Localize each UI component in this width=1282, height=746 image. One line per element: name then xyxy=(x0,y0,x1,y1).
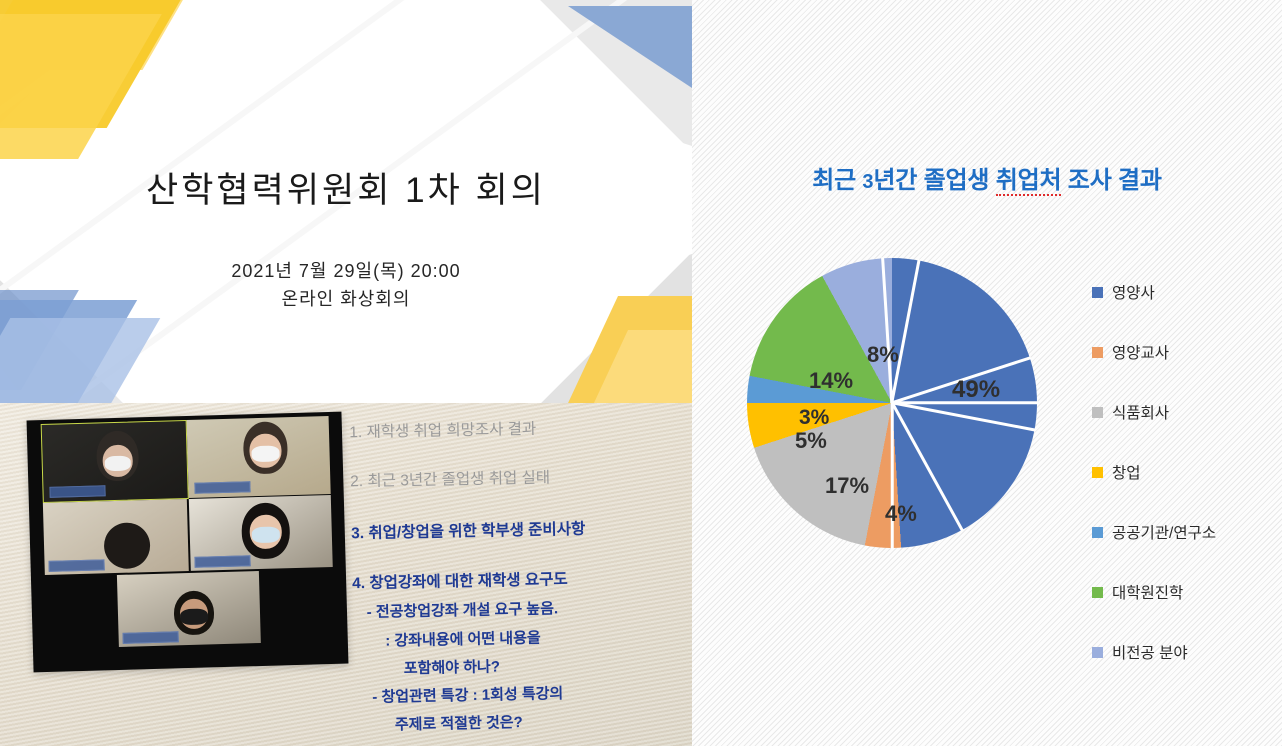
video-call-grid xyxy=(27,412,349,673)
video-tile-2 xyxy=(187,416,331,498)
legend-swatch-icon xyxy=(1092,647,1103,658)
title-slide-graphics: 산학협력위원회 1차 회의 2021년 7월 29일(목) 20:00 온라인 … xyxy=(0,0,692,405)
agenda-sub-2: : 강좌내용에 어떤 내용을 xyxy=(385,623,692,651)
pie-label-1: 4% xyxy=(885,501,917,527)
chart-title-suffix: 조사 결과 xyxy=(1061,167,1161,194)
slide-title: 산학협력위원회 1차 회의 xyxy=(0,162,692,213)
pie-label-4: 3% xyxy=(799,406,829,430)
chart-title-prefix: 최근 xyxy=(812,167,862,194)
participant-name-2 xyxy=(194,481,250,494)
participant-mask-4 xyxy=(252,526,280,543)
legend-label: 식품회사 xyxy=(1112,401,1169,423)
participant-hair-3 xyxy=(103,522,150,569)
chart-slide: 최근 3년간 졸업생 취업처 조사 결과 49% 4% 17% 5% 3% 14… xyxy=(692,0,1282,746)
legend-item[interactable]: 공공기관/연구소 xyxy=(1092,502,1277,562)
agenda-item-4: 4. 창업강좌에 대한 재학생 요구도 xyxy=(352,565,692,594)
meeting-photo: 1. 재학생 취업 희망조사 결과 2. 최근 3년간 졸업생 취업 실태 3.… xyxy=(0,403,692,746)
participant-mask-5 xyxy=(180,608,208,625)
legend-swatch-icon xyxy=(1092,347,1103,358)
participant-mask-2 xyxy=(251,445,279,462)
participant-mask-1 xyxy=(105,456,131,472)
chart-title-number: 3 xyxy=(862,171,873,193)
slide-subtitle: 2021년 7월 29일(목) 20:00 온라인 화상회의 xyxy=(0,258,692,314)
slide-screenshot: 산학협력위원회 1차 회의 2021년 7월 29일(목) 20:00 온라인 … xyxy=(0,0,1282,746)
pie-label-2: 17% xyxy=(825,473,869,499)
legend-label: 영양교사 xyxy=(1112,341,1169,363)
chart-title-misspelled-word: 취업처 xyxy=(996,167,1062,196)
pie-label-3: 5% xyxy=(795,428,827,454)
legend-swatch-icon xyxy=(1092,407,1103,418)
video-tile-1 xyxy=(41,420,189,503)
agenda-item-2: 2. 최근 3년간 졸업생 취업 실태 xyxy=(350,463,690,492)
agenda-sub-1: - 전공창업강좌 개설 요구 높음. xyxy=(366,594,692,622)
legend-label: 공공기관/연구소 xyxy=(1112,521,1216,543)
pie-chart: 49% 4% 17% 5% 3% 14% 8% xyxy=(747,258,1077,588)
slide-subtitle-line-2: 온라인 화상회의 xyxy=(0,286,692,314)
legend-item[interactable]: 대학원진학 xyxy=(1092,562,1277,622)
legend-label: 비전공 분야 xyxy=(1112,641,1188,663)
agenda-item-1: 1. 재학생 취업 희망조사 결과 xyxy=(349,414,689,443)
chart-legend: 영양사영양교사식품회사창업공공기관/연구소대학원진학비전공 분야 xyxy=(1092,262,1277,682)
legend-item[interactable]: 창업 xyxy=(1092,442,1277,502)
legend-item[interactable]: 영양사 xyxy=(1092,262,1277,322)
legend-swatch-icon xyxy=(1092,467,1103,478)
participant-name-5 xyxy=(123,631,179,644)
participant-name-1 xyxy=(49,485,105,498)
chart-title: 최근 3년간 졸업생 취업처 조사 결과 xyxy=(692,160,1282,195)
pie-label-5: 14% xyxy=(809,368,853,394)
slide-subtitle-line-1: 2021년 7월 29일(목) 20:00 xyxy=(0,258,692,286)
chart-title-mid: 년간 졸업생 xyxy=(873,167,995,194)
projected-agenda: 1. 재학생 취업 희망조사 결과 2. 최근 3년간 졸업생 취업 실태 3.… xyxy=(349,403,692,746)
legend-swatch-icon xyxy=(1092,527,1103,538)
legend-label: 영양사 xyxy=(1112,281,1155,303)
legend-swatch-icon xyxy=(1092,587,1103,598)
participant-name-3 xyxy=(48,559,104,572)
legend-item[interactable]: 영양교사 xyxy=(1092,322,1277,382)
agenda-sub-3: 포함해야 하나? xyxy=(404,651,692,679)
legend-label: 대학원진학 xyxy=(1112,581,1183,603)
pie-label-0: 49% xyxy=(952,376,1000,404)
video-tile-4 xyxy=(189,495,333,571)
legend-label: 창업 xyxy=(1112,461,1141,483)
participant-name-4 xyxy=(194,555,250,568)
legend-item[interactable]: 식품회사 xyxy=(1092,382,1277,442)
legend-swatch-icon xyxy=(1092,287,1103,298)
pie-label-6: 8% xyxy=(867,342,899,368)
video-tile-5 xyxy=(117,571,261,647)
legend-item[interactable]: 비전공 분야 xyxy=(1092,622,1277,682)
agenda-item-3: 3. 취업/창업을 위한 학부생 준비사항 xyxy=(351,515,691,544)
title-slide: 산학협력위원회 1차 회의 2021년 7월 29일(목) 20:00 온라인 … xyxy=(0,0,692,746)
video-tile-3 xyxy=(43,499,189,575)
agenda-sub-4: - 창업관련 특강 : 1회성 특강의 xyxy=(372,679,692,707)
agenda-sub-5: 주제로 적절한 것은? xyxy=(395,707,692,735)
